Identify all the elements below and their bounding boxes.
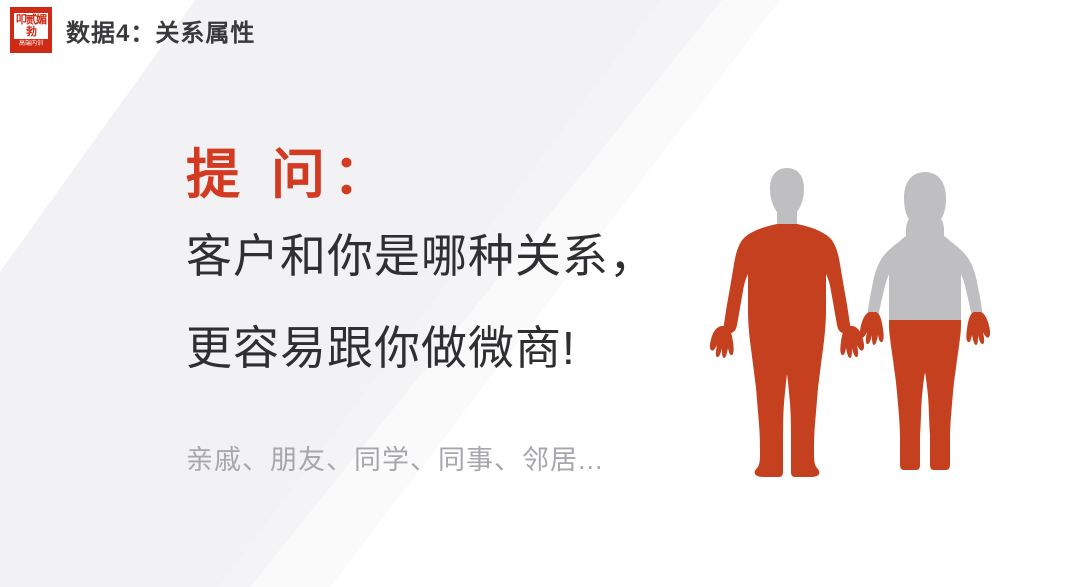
female-right-hand — [966, 312, 990, 345]
slide-root: 叩贰媚勃 高端内训 数据4：关系属性 提 问： 客户和你是哪种关系， 更容易跟你… — [0, 0, 1080, 587]
female-lower-body — [889, 320, 961, 470]
question-line-2: 更容易跟你做微商! — [186, 302, 656, 394]
male-head — [770, 168, 804, 226]
two-person-silhouettes — [700, 160, 1000, 490]
header: 叩贰媚勃 高端内训 数据4：关系属性 — [0, 0, 255, 60]
brand-seal-logo: 叩贰媚勃 高端内训 — [8, 5, 54, 55]
male-left-hand — [710, 326, 734, 358]
ask-label: 提 问： — [186, 140, 656, 210]
female-head-and-upper-body — [868, 172, 983, 324]
male-figure — [710, 168, 864, 477]
logo-top-text: 叩贰媚勃 — [14, 13, 48, 39]
male-body — [724, 224, 850, 477]
female-figure — [860, 172, 990, 470]
question-line-1: 客户和你是哪种关系， — [186, 210, 656, 302]
female-left-hand — [860, 312, 884, 345]
page-title: 数据4：关系属性 — [66, 13, 255, 48]
relationship-examples: 亲戚、朋友、同学、同事、邻居... — [186, 438, 656, 477]
logo-bottom-text: 高端内训 — [19, 41, 43, 48]
main-text-block: 提 问： 客户和你是哪种关系， 更容易跟你做微商! 亲戚、朋友、同学、同事、邻居… — [186, 140, 656, 477]
